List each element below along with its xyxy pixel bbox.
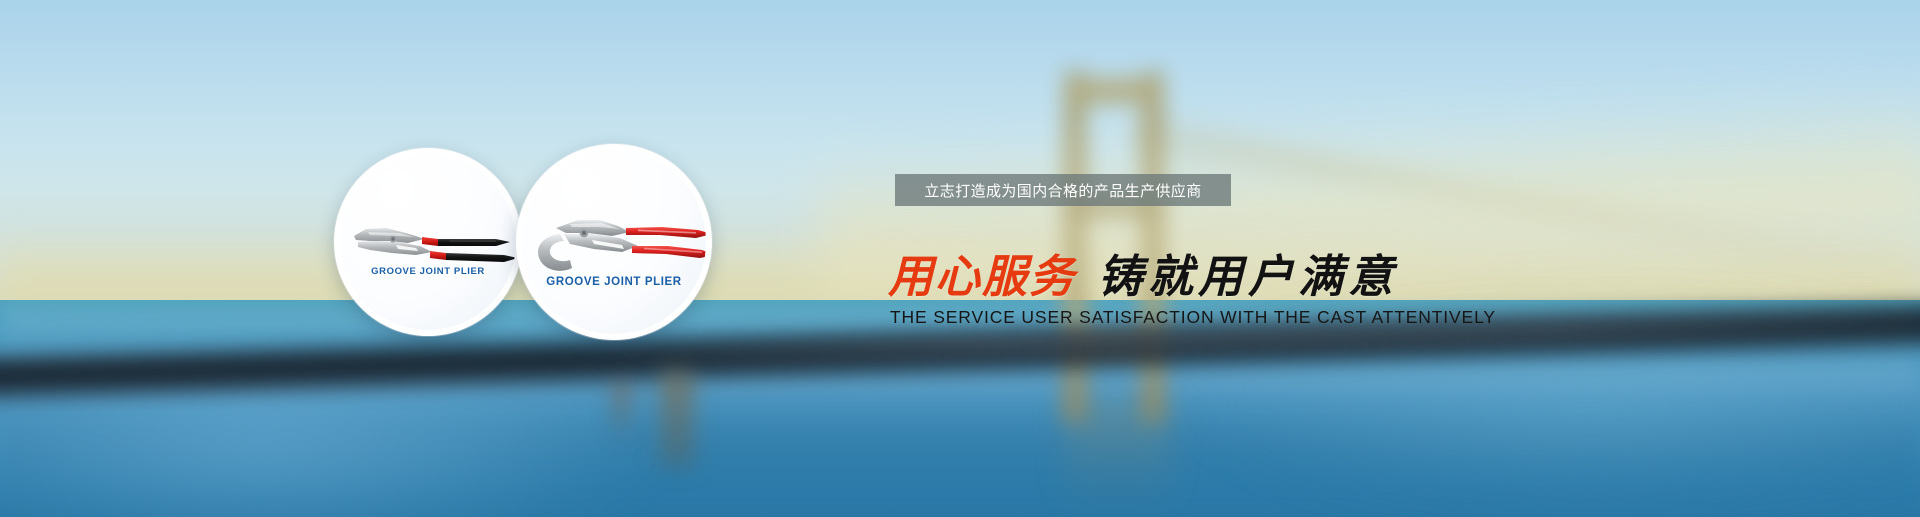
headline-secondary-text: 铸就用户满意 — [1098, 248, 1398, 306]
tagline-text: 立志打造成为国内合格的产品生产供应商 — [924, 180, 1201, 201]
product-circle-1[interactable]: GROOVE JOINT PLIER — [334, 148, 522, 336]
circle-inner-gloss — [522, 150, 706, 334]
bridge-pier-secondary — [612, 382, 632, 440]
product-caption: GROOVE JOINT PLIER — [340, 266, 516, 277]
product-caption: GROOVE JOINT PLIER — [522, 276, 706, 288]
bridge-tower-reflection — [1066, 400, 1170, 510]
bridge-tower-crossbeam — [1064, 78, 1164, 104]
headline: 用心服务铸就用户满意 — [888, 248, 1508, 310]
bridge-pier — [660, 372, 694, 468]
subheadline-text: THE SERVICE USER SATISFACTION WITH THE C… — [890, 307, 1496, 328]
circle-inner-gloss — [340, 154, 516, 330]
hero-banner: GROOVE JOINT PLIER — [0, 0, 1920, 517]
tagline-bar: 立志打造成为国内合格的产品生产供应商 — [895, 174, 1231, 206]
headline-primary-text: 用心服务 — [888, 248, 1076, 306]
product-circle-2[interactable]: GROOVE JOINT PLIER — [516, 144, 712, 340]
